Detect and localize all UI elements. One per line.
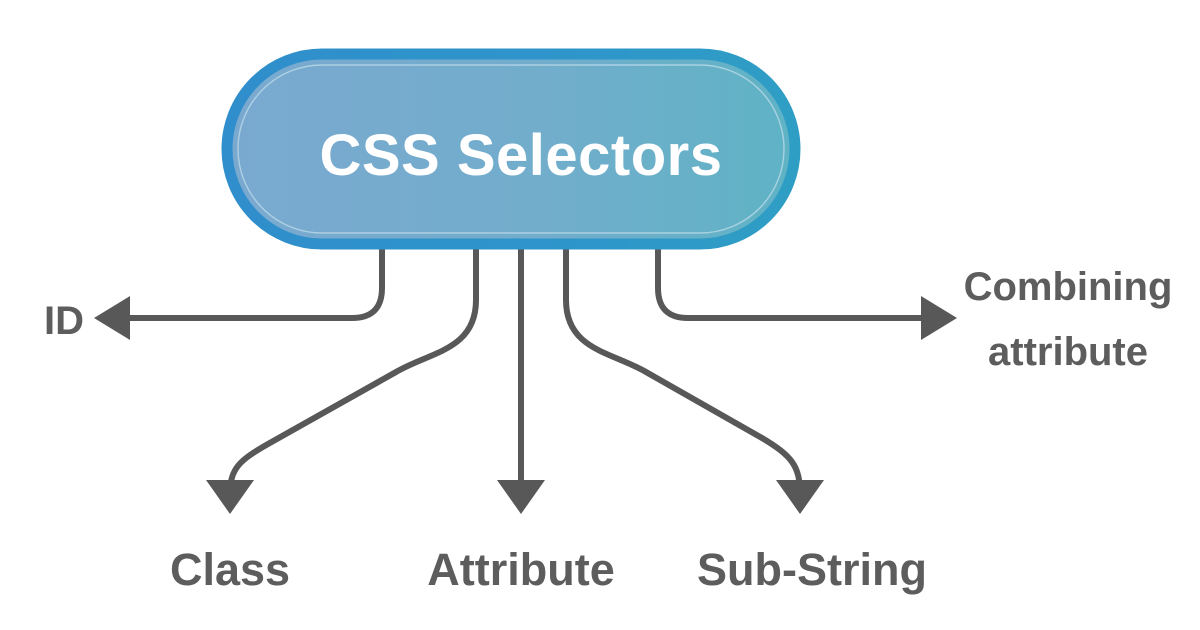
branch-label-class: Class	[170, 544, 290, 595]
branch-label-combining-attribute-line1: Combining	[964, 265, 1173, 309]
connector-class	[230, 249, 476, 494]
css-selectors-diagram: CSS Selectors ID Class Attribute Sub-Str…	[0, 0, 1200, 630]
branch-label-id: ID	[44, 299, 84, 343]
central-node[interactable]: CSS Selectors	[227, 54, 795, 244]
arrowhead-class	[206, 480, 254, 514]
branch-label-combining-attribute-line2: attribute	[988, 330, 1148, 374]
arrowhead-id	[94, 296, 130, 340]
arrowhead-combining-attribute	[921, 296, 957, 340]
branch-label-sub-string: Sub-String	[697, 544, 927, 595]
arrowhead-attribute	[497, 480, 545, 514]
connector-sub-string	[566, 249, 800, 494]
connector-combining-attribute	[658, 249, 939, 318]
arrow-heads	[94, 296, 957, 514]
connector-id	[112, 249, 382, 318]
central-node-title: CSS Selectors	[319, 123, 722, 188]
arrowhead-sub-string	[776, 480, 824, 514]
diagram-canvas: CSS Selectors ID Class Attribute Sub-Str…	[0, 0, 1200, 630]
connector-lines	[112, 249, 939, 494]
branch-label-attribute: Attribute	[427, 544, 614, 595]
